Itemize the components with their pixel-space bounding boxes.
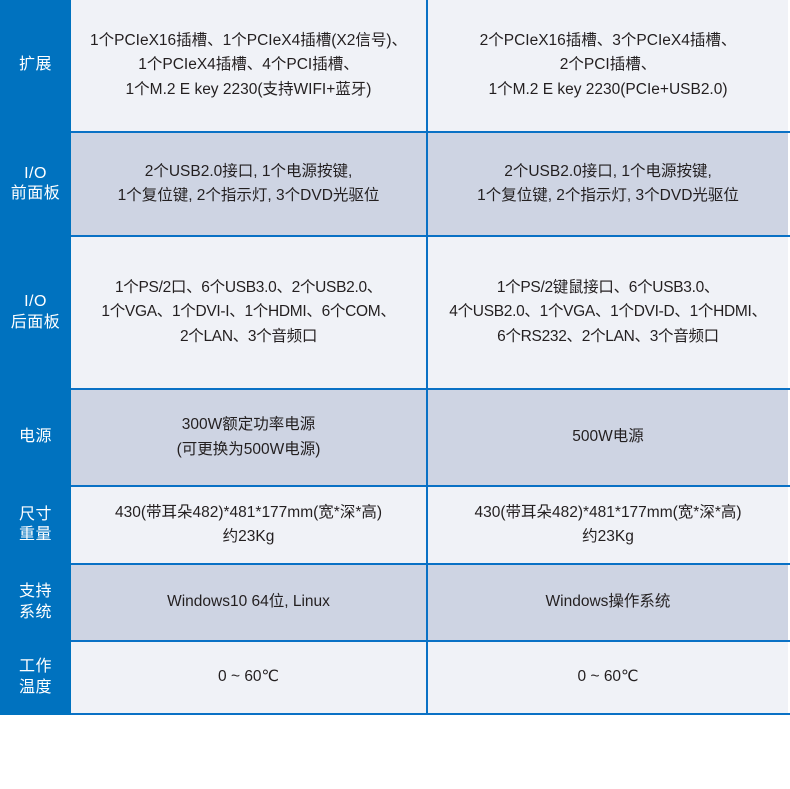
cell-io-front-panel-model-b: 2个USB2.0接口, 1个电源按键, 1个复位键, 2个指示灯, 3个DVD光… xyxy=(428,133,788,235)
row-label-text: 工作 温度 xyxy=(19,657,52,698)
cell-expansion-model-a: 1个PCIeX16插槽、1个PCIeX4插槽(X2信号)、 1个PCIeX4插槽… xyxy=(71,0,428,131)
cell-supported-os-model-a: Windows10 64位, Linux xyxy=(71,565,428,640)
cell-power-supply-model-a: 300W额定功率电源 (可更换为500W电源) xyxy=(71,390,428,485)
cell-text: Windows操作系统 xyxy=(546,590,671,614)
cell-io-rear-panel-model-b: 1个PS/2键鼠接口、6个USB3.0、 4个USB2.0、1个VGA、1个DV… xyxy=(428,237,788,388)
cell-text: 2个USB2.0接口, 1个电源按键, 1个复位键, 2个指示灯, 3个DVD光… xyxy=(118,160,380,208)
cell-text: Windows10 64位, Linux xyxy=(167,590,330,614)
cell-text: 300W额定功率电源 (可更换为500W电源) xyxy=(177,413,321,461)
row-label-io-front-panel: I/O 前面板 xyxy=(0,133,71,237)
cell-operating-temperature-model-b: 0 ~ 60℃ xyxy=(428,642,788,713)
cell-text: 0 ~ 60℃ xyxy=(218,665,279,689)
specification-table: 扩展 1个PCIeX16插槽、1个PCIeX4插槽(X2信号)、 1个PCIeX… xyxy=(0,0,790,715)
cell-dimensions-weight-model-b: 430(带耳朵482)*481*177mm(宽*深*高) 约23Kg xyxy=(428,487,788,563)
row-label-text: 电源 xyxy=(19,427,52,447)
table-row: 扩展 1个PCIeX16插槽、1个PCIeX4插槽(X2信号)、 1个PCIeX… xyxy=(0,0,790,133)
table-row: 支持 系统 Windows10 64位, Linux Windows操作系统 xyxy=(0,565,790,642)
row-label-power-supply: 电源 xyxy=(0,390,71,487)
cell-text: 430(带耳朵482)*481*177mm(宽*深*高) 约23Kg xyxy=(474,501,741,549)
row-label-text: I/O 后面板 xyxy=(11,292,61,333)
bottom-whitespace xyxy=(0,715,790,789)
cell-text: 430(带耳朵482)*481*177mm(宽*深*高) 约23Kg xyxy=(115,501,382,549)
cell-expansion-model-b: 2个PCIeX16插槽、3个PCIeX4插槽、 2个PCI插槽、 1个M.2 E… xyxy=(428,0,788,131)
row-label-text: 尺寸 重量 xyxy=(19,505,52,546)
cell-text: 0 ~ 60℃ xyxy=(578,665,639,689)
row-label-dimensions-weight: 尺寸 重量 xyxy=(0,487,71,565)
table-row: 工作 温度 0 ~ 60℃ 0 ~ 60℃ xyxy=(0,642,790,715)
cell-supported-os-model-b: Windows操作系统 xyxy=(428,565,788,640)
cell-text: 2个PCIeX16插槽、3个PCIeX4插槽、 2个PCI插槽、 1个M.2 E… xyxy=(480,29,737,101)
cell-text: 1个PS/2口、6个USB3.0、2个USB2.0、 1个VGA、1个DVI-I… xyxy=(101,276,395,348)
table-row: 尺寸 重量 430(带耳朵482)*481*177mm(宽*深*高) 约23Kg… xyxy=(0,487,790,565)
cell-text: 2个USB2.0接口, 1个电源按键, 1个复位键, 2个指示灯, 3个DVD光… xyxy=(477,160,739,208)
row-label-text: 扩展 xyxy=(19,55,52,75)
row-label-io-rear-panel: I/O 后面板 xyxy=(0,237,71,390)
cell-dimensions-weight-model-a: 430(带耳朵482)*481*177mm(宽*深*高) 约23Kg xyxy=(71,487,428,563)
cell-text: 500W电源 xyxy=(572,425,644,449)
row-label-text: 支持 系统 xyxy=(19,582,52,623)
row-label-operating-temperature: 工作 温度 xyxy=(0,642,71,715)
row-label-expansion: 扩展 xyxy=(0,0,71,133)
cell-power-supply-model-b: 500W电源 xyxy=(428,390,788,485)
cell-text: 1个PCIeX16插槽、1个PCIeX4插槽(X2信号)、 1个PCIeX4插槽… xyxy=(90,29,407,101)
cell-io-front-panel-model-a: 2个USB2.0接口, 1个电源按键, 1个复位键, 2个指示灯, 3个DVD光… xyxy=(71,133,428,235)
cell-text: 1个PS/2键鼠接口、6个USB3.0、 4个USB2.0、1个VGA、1个DV… xyxy=(449,276,766,348)
cell-operating-temperature-model-a: 0 ~ 60℃ xyxy=(71,642,428,713)
row-label-supported-os: 支持 系统 xyxy=(0,565,71,642)
table-row: I/O 前面板 2个USB2.0接口, 1个电源按键, 1个复位键, 2个指示灯… xyxy=(0,133,790,237)
table-row: I/O 后面板 1个PS/2口、6个USB3.0、2个USB2.0、 1个VGA… xyxy=(0,237,790,390)
row-label-text: I/O 前面板 xyxy=(11,164,61,205)
cell-io-rear-panel-model-a: 1个PS/2口、6个USB3.0、2个USB2.0、 1个VGA、1个DVI-I… xyxy=(71,237,428,388)
table-row: 电源 300W额定功率电源 (可更换为500W电源) 500W电源 xyxy=(0,390,790,487)
